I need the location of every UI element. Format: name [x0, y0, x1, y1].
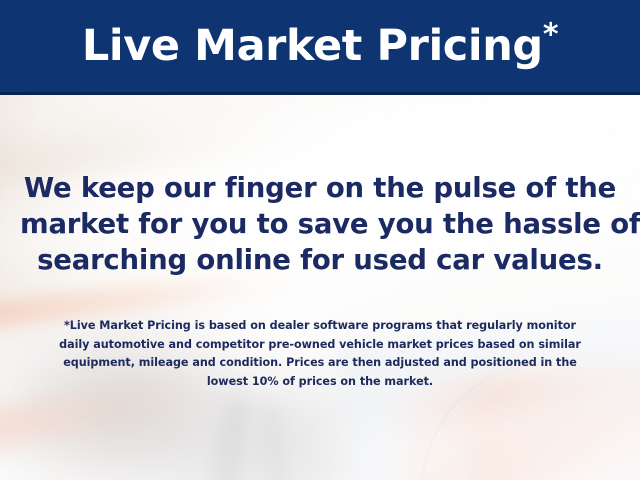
page-title-text: Live Market Pricing	[82, 21, 543, 71]
header-banner: Live Market Pricing*	[0, 0, 640, 95]
live-market-pricing-slide: Live Market Pricing* We keep our finger …	[0, 0, 640, 480]
disclaimer-block: *Live Market Pricing is based on dealer …	[24, 317, 616, 391]
disclaimer-line-2: daily automotive and competitor pre-owne…	[24, 336, 616, 355]
disclaimer-line-3: equipment, mileage and condition. Prices…	[24, 354, 616, 373]
headline-block: We keep our finger on the pulse of the m…	[20, 170, 620, 278]
headline-line-3: searching online for used car values.	[20, 242, 620, 278]
disclaimer-line-4: lowest 10% of prices on the market.	[24, 373, 616, 392]
headline-line-2: market for you to save you the hassle of	[20, 206, 620, 242]
disclaimer-line-1: *Live Market Pricing is based on dealer …	[24, 317, 616, 336]
headline-line-1: We keep our finger on the pulse of the	[20, 170, 620, 206]
page-title-asterisk: *	[543, 17, 558, 52]
page-title: Live Market Pricing*	[82, 25, 558, 68]
content-area: We keep our finger on the pulse of the m…	[0, 92, 640, 480]
